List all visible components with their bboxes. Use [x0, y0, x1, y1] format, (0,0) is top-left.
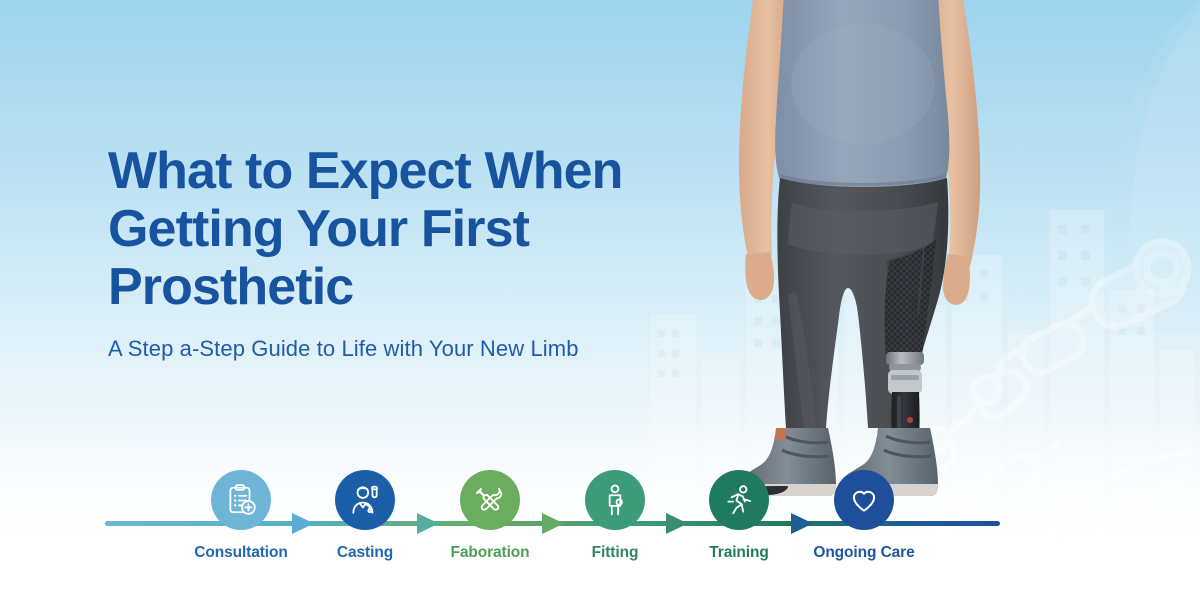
- page-subtitle: A Step a-Step Guide to Life with Your Ne…: [108, 336, 579, 362]
- clipboard-plus-icon: [224, 483, 258, 517]
- timeline-arrow-1: [292, 513, 314, 534]
- timeline-arrow-4: [666, 513, 688, 534]
- timeline-step-training[interactable]: [709, 470, 769, 530]
- timeline-arrow-2: [417, 513, 439, 534]
- person-illustration: [700, 0, 1060, 500]
- timeline-arrow-3: [542, 513, 564, 534]
- heart-icon: [847, 483, 881, 517]
- timeline-step-consultation[interactable]: [211, 470, 271, 530]
- process-timeline: Consultation Casting Faboration Fitt: [0, 470, 1200, 580]
- doctor-icon: [348, 483, 382, 517]
- timeline-step-faboration[interactable]: [460, 470, 520, 530]
- timeline-step-casting[interactable]: [335, 470, 395, 530]
- tools-icon: [473, 483, 507, 517]
- timeline-step-fitting[interactable]: [585, 470, 645, 530]
- headline-line-3: Prosthetic: [108, 258, 728, 316]
- timeline-step-ongoing-care[interactable]: [834, 470, 894, 530]
- prosthetic-user-photo: [700, 0, 1060, 500]
- headline-line-2: Getting Your First: [108, 200, 728, 258]
- timeline-label-ongoing-care: Ongoing Care: [769, 544, 959, 562]
- timeline-arrow-5: [791, 513, 813, 534]
- running-person-icon: [722, 483, 756, 517]
- page-title: What to Expect When Getting Your First P…: [108, 142, 728, 317]
- headline-line-1: What to Expect When: [108, 142, 728, 200]
- standing-person-icon: [598, 483, 632, 517]
